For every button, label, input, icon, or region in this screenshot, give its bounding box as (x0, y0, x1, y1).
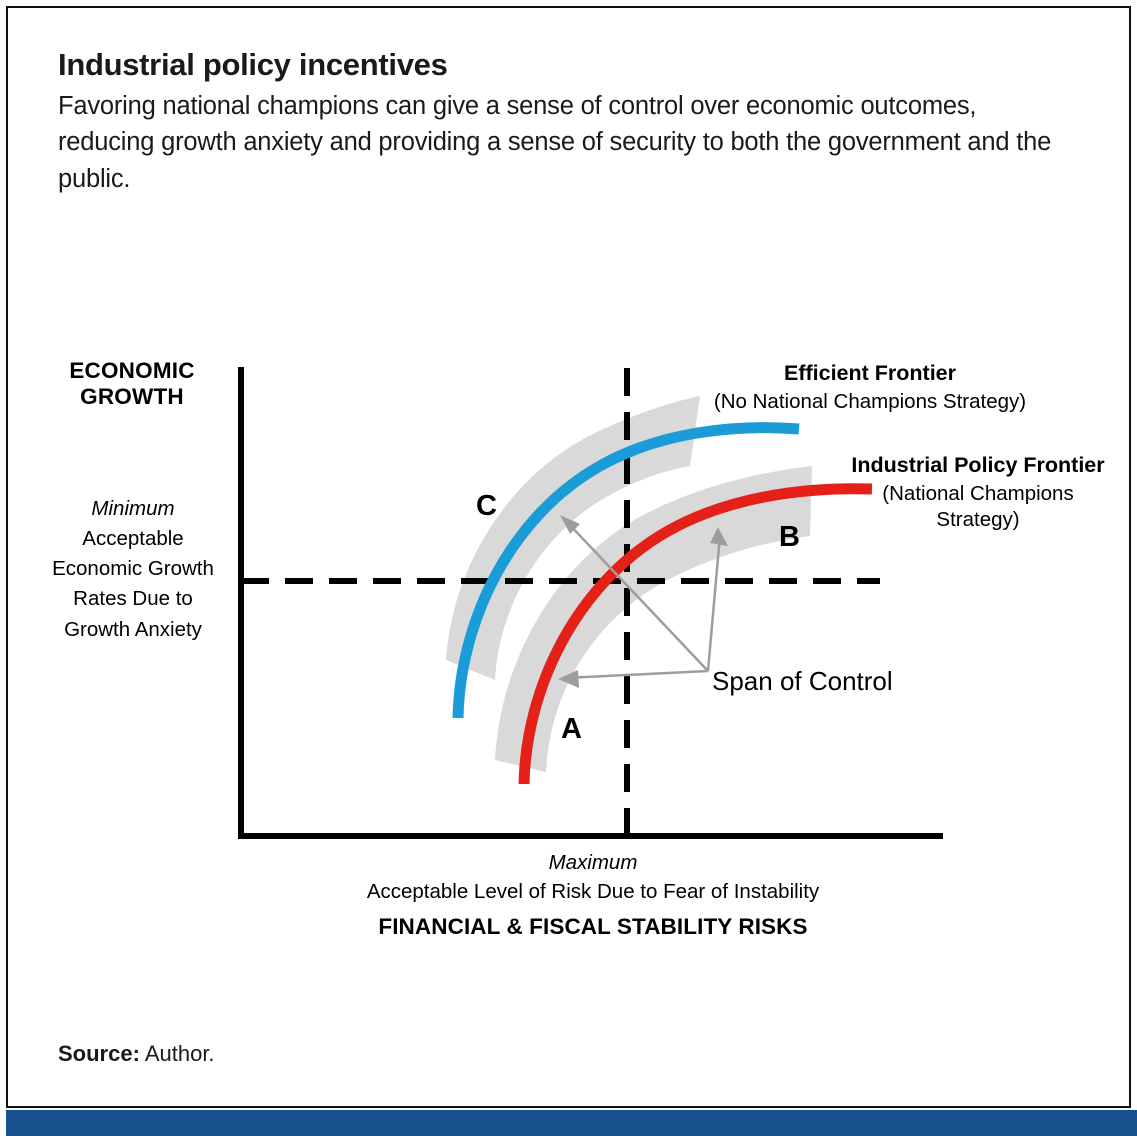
x-axis-title: FINANCIAL & FISCAL STABILITY RISKS (243, 914, 943, 940)
figure-container: Industrial policy incentives Favoring na… (0, 0, 1137, 1136)
source-line: Source: Author. (58, 1041, 215, 1067)
y-axis-note-italic: Minimum (91, 497, 174, 520)
y-axis-title: ECONOMIC GROWTH (42, 358, 222, 410)
x-axis-note: Maximum Acceptable Level of Risk Due to … (243, 848, 943, 906)
industrial-policy-frontier-title: Industrial Policy Frontier (838, 452, 1118, 480)
efficient-frontier-title: Efficient Frontier (660, 360, 1080, 388)
y-axis-note: Minimum Acceptable Economic Growth Rates… (40, 494, 226, 645)
efficient-frontier-label: Efficient Frontier (No National Champion… (660, 360, 1080, 415)
source-label: Source: (58, 1041, 140, 1066)
x-axis-note-rest: Acceptable Level of Risk Due to Fear of … (367, 880, 819, 903)
efficient-frontier-subtitle: (No National Champions Strategy) (714, 390, 1026, 413)
point-label-a: A (561, 713, 582, 746)
bottom-accent-bar (6, 1110, 1137, 1136)
y-axis-note-rest: Acceptable Economic Growth Rates Due to … (52, 527, 214, 640)
source-value: Author. (140, 1041, 215, 1066)
point-label-b: B (779, 521, 800, 554)
industrial-policy-frontier-subtitle: (National Champions Strategy) (882, 482, 1073, 531)
point-label-c: C (476, 490, 497, 523)
x-axis-note-italic: Maximum (549, 851, 638, 874)
industrial-policy-frontier-label: Industrial Policy Frontier (National Cha… (838, 452, 1118, 533)
span-of-control-label: Span of Control (712, 665, 893, 698)
